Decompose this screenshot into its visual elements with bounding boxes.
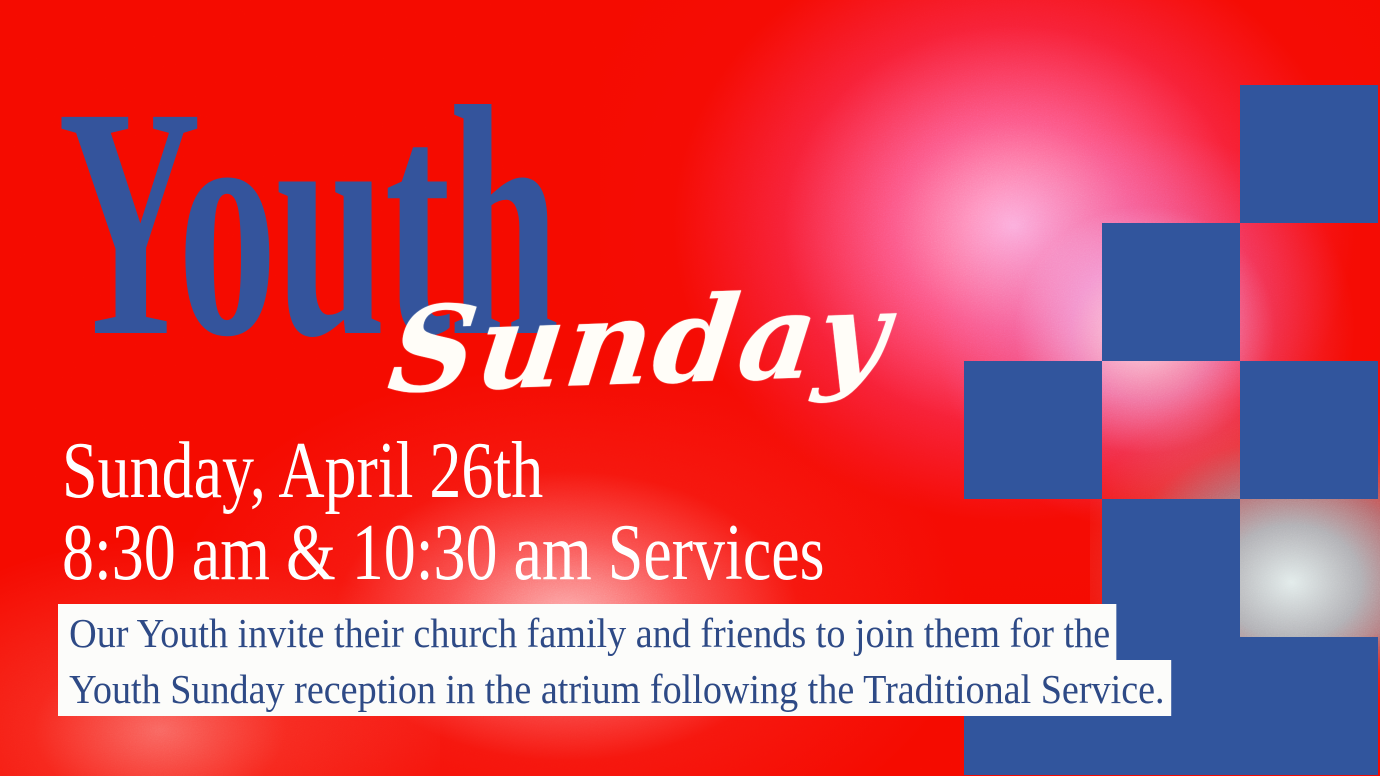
poster-canvas: Youth Sunday Sunday, April 26th 8:30 am … [0, 0, 1380, 776]
event-details: Sunday, April 26th 8:30 am & 10:30 am Se… [62, 430, 825, 595]
event-date-line: Sunday, April 26th [62, 430, 825, 512]
banner-line-1: Our Youth invite their church family and… [58, 604, 1117, 660]
description-banner: Our Youth invite their church family and… [58, 604, 1255, 716]
event-time-line: 8:30 am & 10:30 am Services [62, 512, 825, 594]
headline-sunday-script: Sunday [383, 275, 896, 410]
banner-line-2: Youth Sunday reception in the atrium fol… [58, 660, 1171, 716]
